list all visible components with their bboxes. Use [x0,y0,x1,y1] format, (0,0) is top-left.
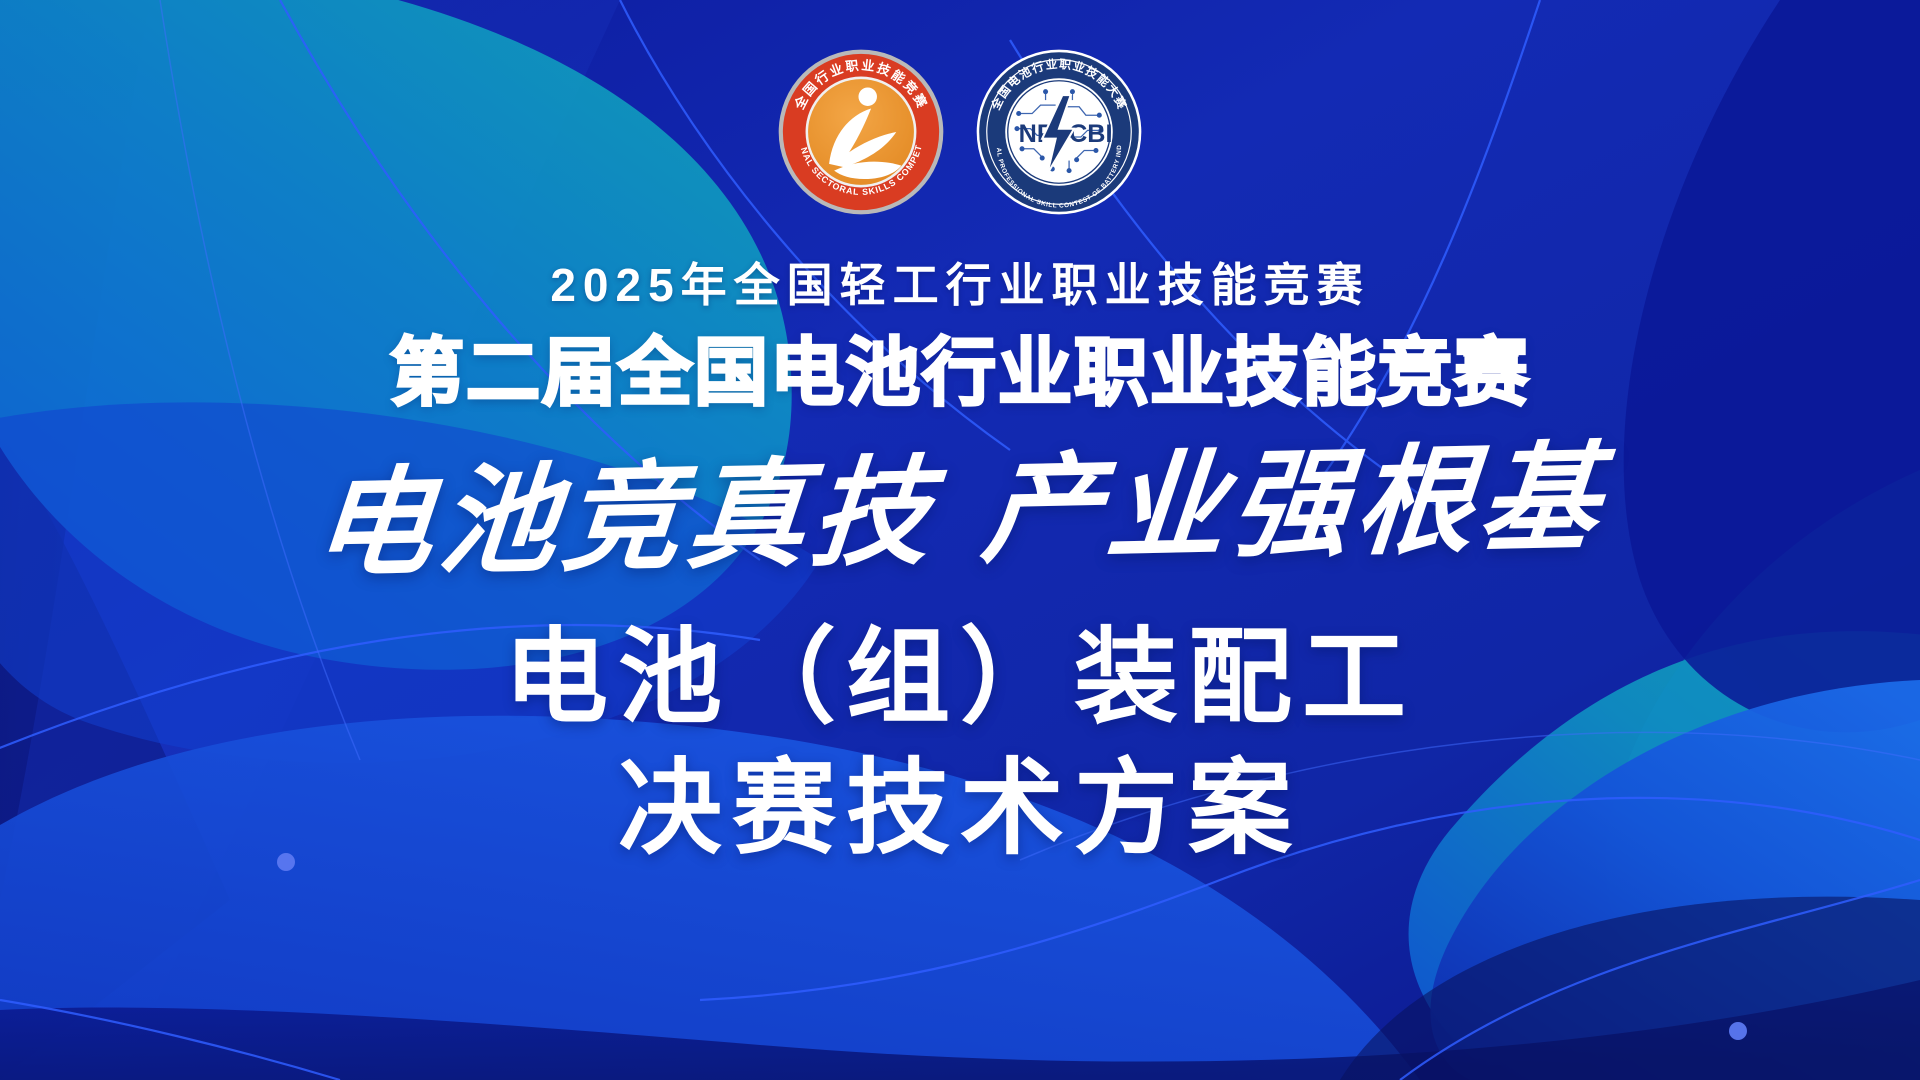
doc-title-line-2: 决赛技术方案 [618,755,1302,864]
subtitle-line: 2025年全国轻工行业职业技能竞赛 [550,262,1369,308]
bg-dot-right [1729,1022,1747,1040]
slogan-calligraphy: 电池竞真技 产业强根基 [310,439,1610,584]
main-title-line: 第二届全国电池行业职业技能竞赛 [390,336,1530,410]
poster-canvas: 全国行业职业技能竞赛 NATIONAL SECTORAL SKILLS COMP… [0,0,1920,1080]
poster-text-block: 2025年全国轻工行业职业技能竞赛 第二届全国电池行业职业技能竞赛 电池竞真技 … [0,0,1920,864]
doc-title-line-1: 电池（组）装配工 [504,624,1416,733]
